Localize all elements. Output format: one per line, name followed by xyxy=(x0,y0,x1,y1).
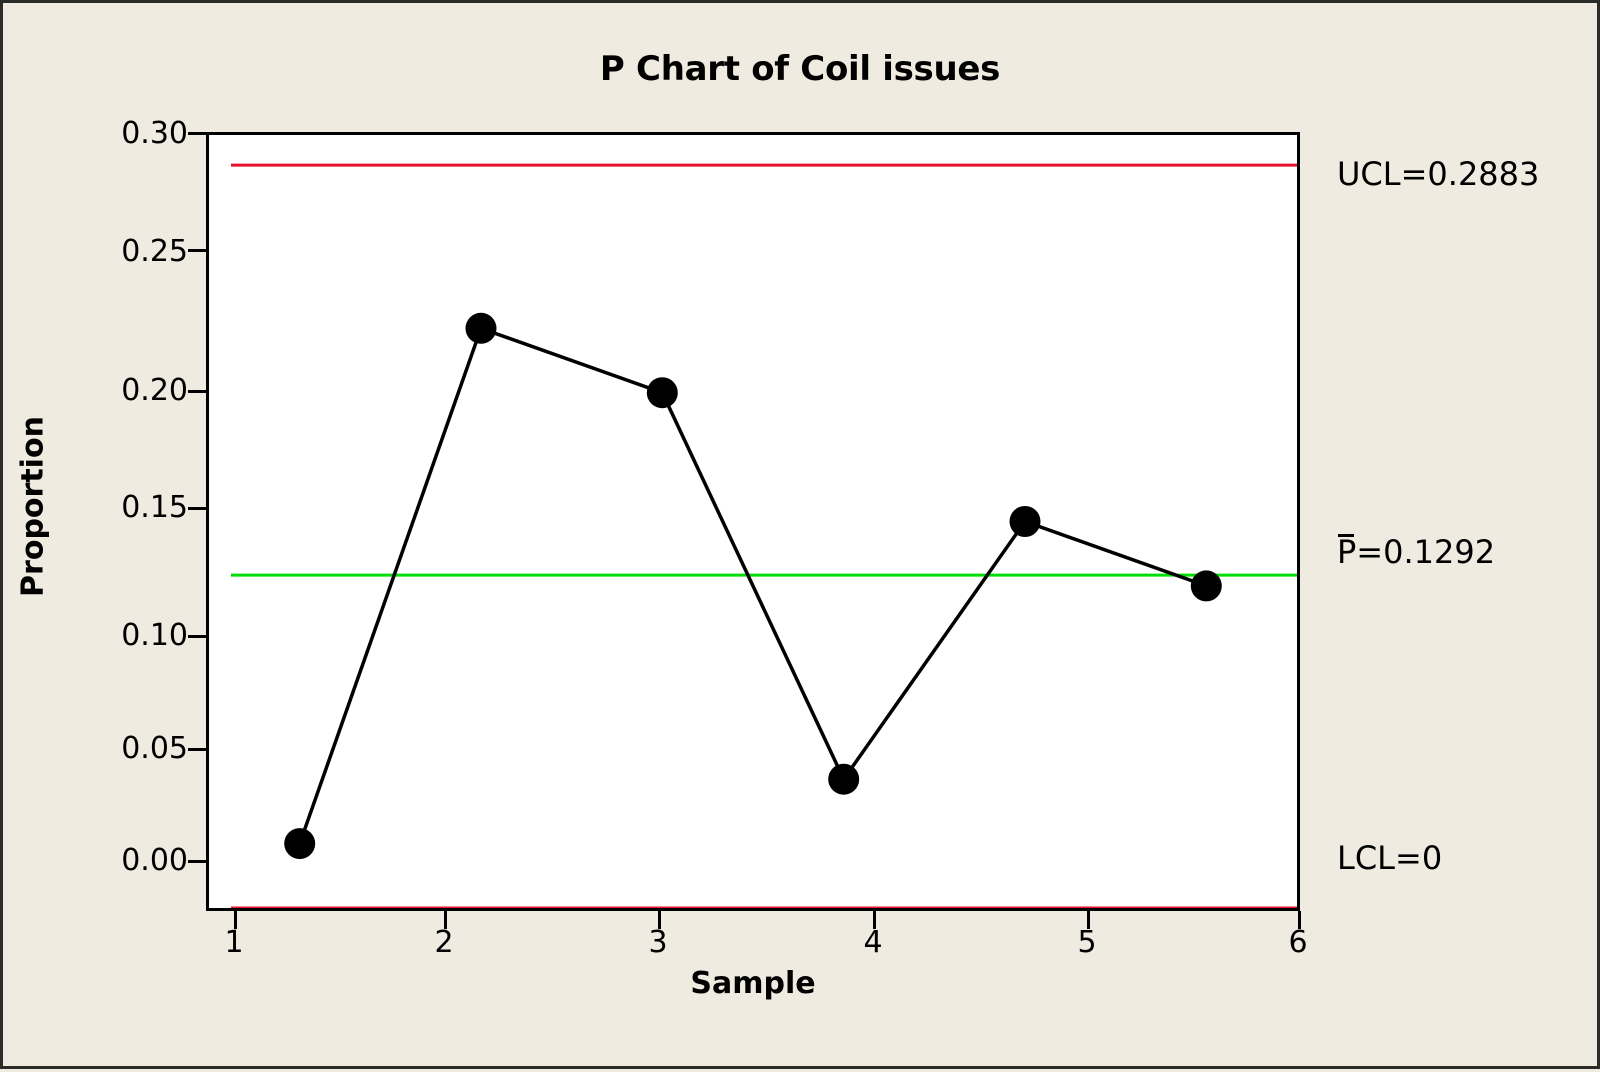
data-point[interactable] xyxy=(647,377,678,408)
y-tick-label: 0.25 xyxy=(121,234,188,269)
x-axis-title: Sample xyxy=(206,966,1300,1001)
data-point[interactable] xyxy=(466,313,497,344)
center-line-label: P=0.1292 xyxy=(1337,533,1495,571)
y-tick-mark xyxy=(188,748,206,751)
x-tick-label: 5 xyxy=(1047,925,1127,960)
page-title: P Chart of Coil issues xyxy=(3,49,1597,89)
y-tick-mark xyxy=(188,132,206,135)
plot-area xyxy=(206,132,1300,911)
x-tick-label: 2 xyxy=(404,925,484,960)
x-tick-label: 3 xyxy=(618,925,698,960)
y-tick-mark xyxy=(188,507,206,510)
data-point[interactable] xyxy=(828,764,859,795)
series-line xyxy=(300,328,1207,843)
data-point[interactable] xyxy=(284,828,315,859)
x-tick-label: 1 xyxy=(194,925,274,960)
series-plot xyxy=(209,135,1297,908)
y-tick-mark xyxy=(188,249,206,252)
y-tick-label: 0.20 xyxy=(121,373,188,408)
y-tick-mark xyxy=(188,635,206,638)
y-tick-label: 0.30 xyxy=(121,116,188,151)
x-tick-label: 4 xyxy=(833,925,913,960)
center-line-label-pbar: P xyxy=(1337,533,1356,571)
y-axis-title: Proportion xyxy=(16,407,51,607)
data-point[interactable] xyxy=(1010,506,1041,537)
y-tick-mark xyxy=(188,390,206,393)
y-axis-ticks: 0.30 0.25 0.20 0.15 0.10 0.05 0.00 xyxy=(63,3,188,1072)
chart-window: P Chart of Coil issues Proportion 0.30 0… xyxy=(0,0,1600,1069)
y-tick-label: 0.10 xyxy=(121,618,188,653)
data-point[interactable] xyxy=(1191,570,1222,601)
y-tick-label: 0.15 xyxy=(121,490,188,525)
lcl-label: LCL=0 xyxy=(1337,839,1442,877)
center-line-label-value: =0.1292 xyxy=(1356,533,1495,571)
y-tick-label: 0.00 xyxy=(121,843,188,878)
x-tick-label: 6 xyxy=(1258,925,1338,960)
ucl-label: UCL=0.2883 xyxy=(1337,155,1539,193)
y-tick-label: 0.05 xyxy=(121,731,188,766)
y-tick-mark xyxy=(188,860,206,863)
